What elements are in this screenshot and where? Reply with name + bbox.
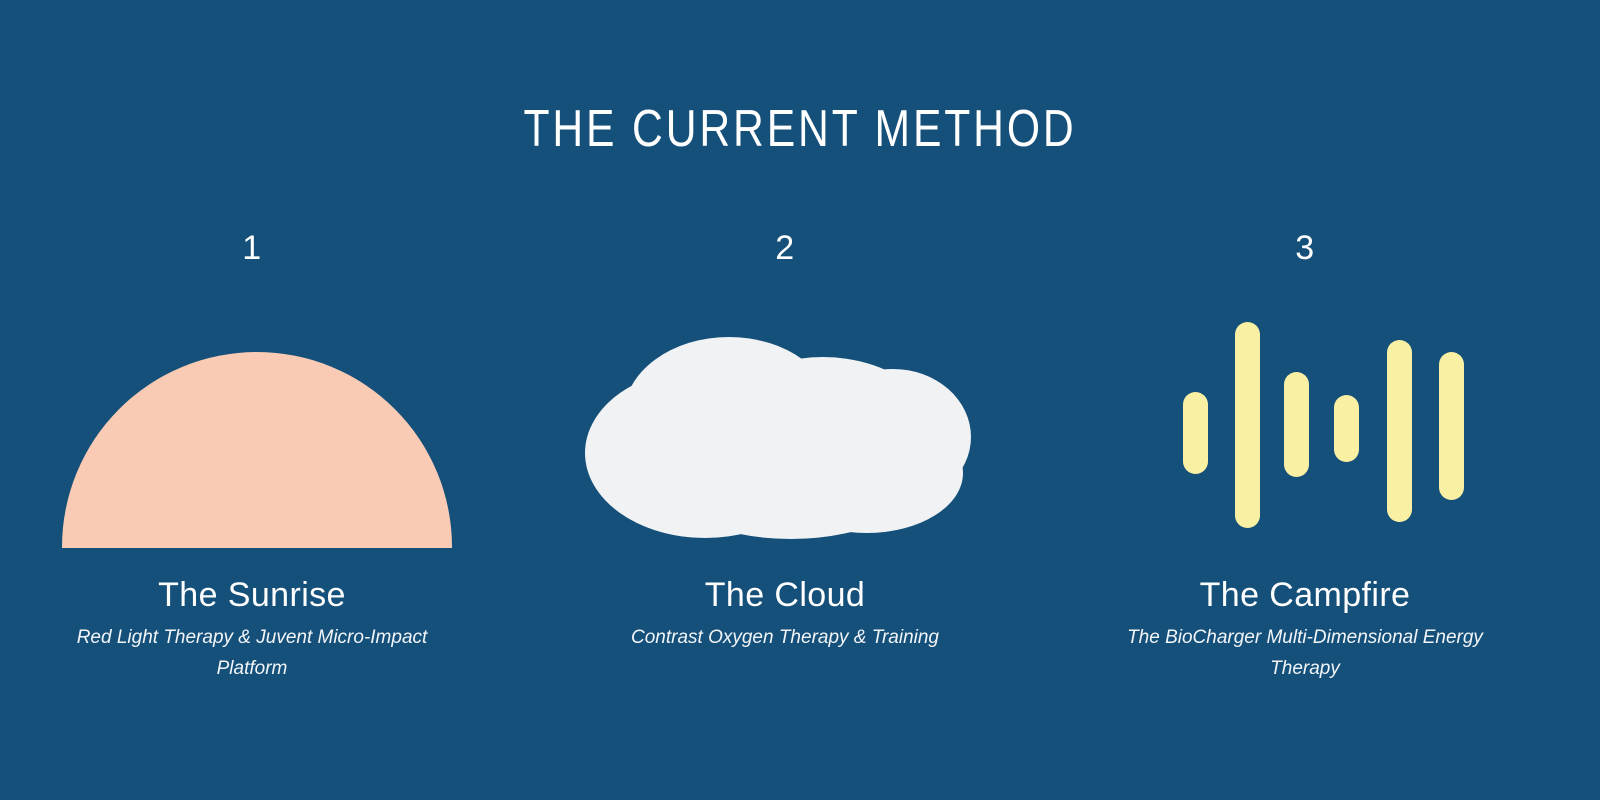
waveform-bar-6 [1439,352,1464,500]
step-number-2: 2 [555,228,1015,272]
sunrise-icon [62,352,452,548]
card-subtitle-sunrise: Red Light Therapy & Juvent Micro-Impact … [22,622,482,684]
card-title-campfire: The Campfire [1075,574,1535,616]
card-title-cloud: The Cloud [555,574,1015,616]
cloud-icon-slot [555,310,1015,550]
waveform-bar-1 [1183,392,1208,474]
waveform-bar-3 [1284,372,1309,477]
waveform-bar-5 [1387,340,1412,522]
card-title-sunrise: The Sunrise [22,574,482,616]
slide-root: THE CURRENT METHOD 1 The Sunrise Red Lig… [0,0,1600,800]
method-columns: 1 The Sunrise Red Light Therapy & Juvent… [0,0,1600,800]
method-card-campfire: 3 The Campfire The BioCharger Multi-Dime… [1075,228,1535,684]
waveform-icon-slot [1075,310,1535,550]
method-card-cloud: 2 The Cloud Cont [555,228,1015,653]
sunrise-icon-slot [22,310,482,550]
waveform-icon [1145,320,1465,550]
cloud-icon [577,325,992,550]
step-number-1: 1 [22,228,482,272]
step-number-3: 3 [1075,228,1535,272]
card-subtitle-campfire: The BioCharger Multi-Dimensional Energy … [1075,622,1535,684]
waveform-bar-4 [1334,395,1359,462]
method-card-sunrise: 1 The Sunrise Red Light Therapy & Juvent… [22,228,482,684]
waveform-bar-2 [1235,322,1260,528]
card-subtitle-cloud: Contrast Oxygen Therapy & Training [555,622,1015,653]
